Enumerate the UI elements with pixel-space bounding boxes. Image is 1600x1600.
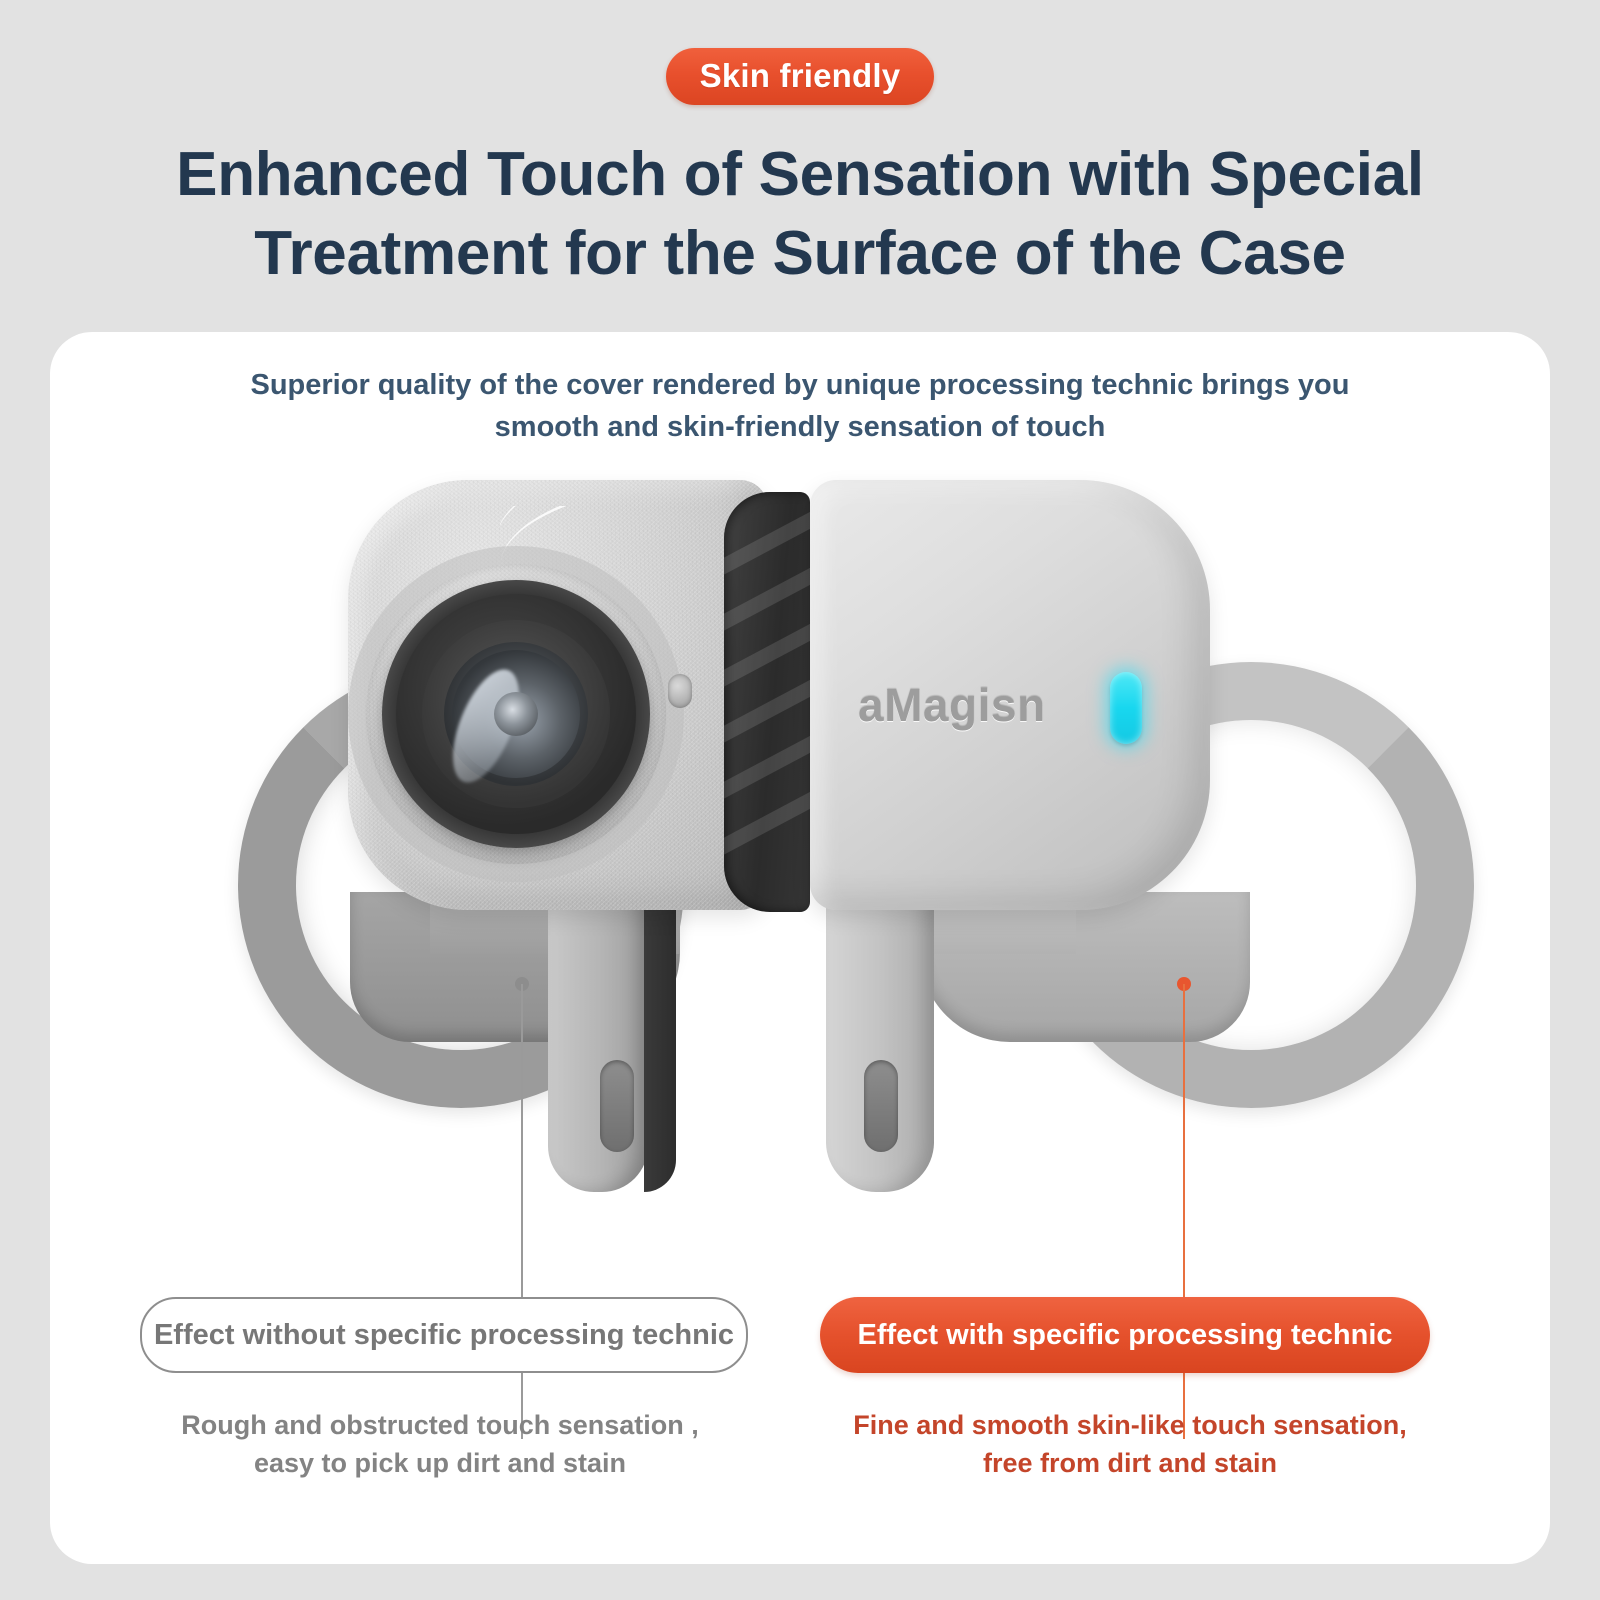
- camera-lens: [382, 580, 650, 848]
- mount-prong-left: [548, 892, 648, 1192]
- lens-center-element: [494, 692, 538, 736]
- callout-caption-left-line-2: easy to pick up dirt and stain: [120, 1445, 760, 1483]
- badge-row: Skin friendly: [0, 48, 1600, 105]
- content-card: Superior quality of the cover rendered b…: [50, 332, 1550, 1564]
- skin-friendly-badge: Skin friendly: [666, 48, 935, 105]
- led-indicator-icon: [1110, 672, 1142, 744]
- callout-caption-right: Fine and smooth skin-like touch sensatio…: [810, 1407, 1450, 1483]
- mount-prong-left-inner-shadow: [644, 892, 676, 1192]
- side-button-left: [668, 674, 692, 708]
- callout-label-with-technic[interactable]: Effect with specific processing technic: [820, 1297, 1430, 1373]
- case-half-right-smooth: aMagisn: [790, 472, 1370, 1272]
- mount-hole-right: [864, 1060, 898, 1152]
- callout-caption-left: Rough and obstructed touch sensation , e…: [120, 1407, 760, 1483]
- page-title-line-1: Enhanced Touch of Sensation with Special: [176, 140, 1424, 209]
- case-body-right: aMagisn: [810, 480, 1210, 910]
- card-subtitle-line-1: Superior quality of the cover rendered b…: [50, 364, 1550, 406]
- callout-caption-left-line-1: Rough and obstructed touch sensation ,: [120, 1407, 760, 1445]
- page-title: Enhanced Touch of Sensation with Special…: [0, 135, 1600, 294]
- mount-prong-right: [826, 892, 934, 1192]
- product-illustration: aMagisn: [230, 472, 1370, 1272]
- card-subtitle-line-2: smooth and skin-friendly sensation of to…: [50, 406, 1550, 448]
- card-subtitle: Superior quality of the cover rendered b…: [50, 364, 1550, 448]
- callout-caption-right-line-1: Fine and smooth skin-like touch sensatio…: [810, 1407, 1450, 1445]
- mount-hole-left: [600, 1060, 634, 1152]
- callout-label-without-technic[interactable]: Effect without specific processing techn…: [140, 1297, 748, 1373]
- page-title-line-2: Treatment for the Surface of the Case: [0, 214, 1600, 293]
- brand-logo: aMagisn: [858, 678, 1046, 732]
- case-half-left-rough: [230, 472, 790, 1272]
- callout-caption-right-line-2: free from dirt and stain: [810, 1445, 1450, 1483]
